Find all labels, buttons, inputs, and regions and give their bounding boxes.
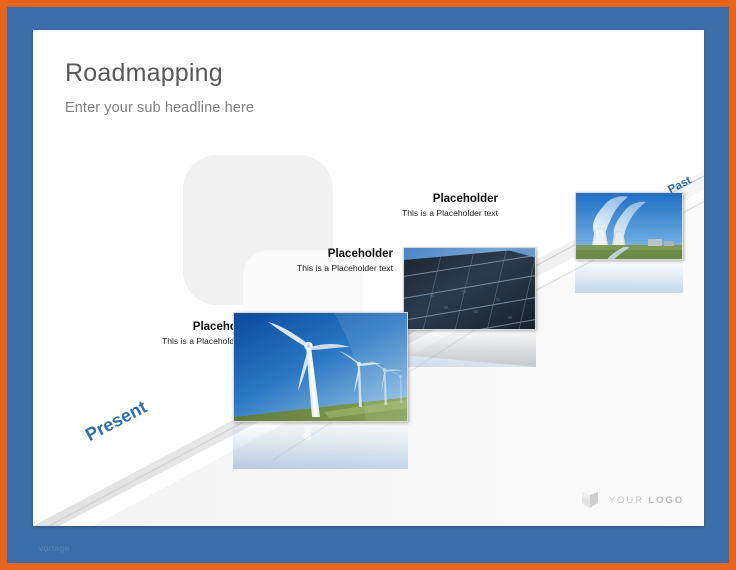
presentation-frame: vorlage: [7, 7, 729, 563]
headline-block: Roadmapping Enter your sub headline here: [65, 58, 254, 116]
photo-reflection: [233, 423, 408, 469]
wind-turbine-illustration: [234, 313, 408, 422]
wind-turbines-photo[interactable]: [233, 312, 408, 422]
step-photo-wrap-present[interactable]: [233, 312, 408, 422]
shield-logo-mark: [579, 489, 601, 511]
step-text-past: Placeholder This is a Placeholder text: [402, 192, 498, 218]
step-text-middle: Placeholder This is a Placeholder text: [297, 247, 393, 273]
nuclear-cooling-towers-photo[interactable]: [575, 192, 683, 260]
logo-word-one: YOUR: [609, 495, 644, 506]
step-description: This is a Placeholder text: [297, 263, 393, 273]
step-description: This is a Placeholder text: [402, 208, 498, 218]
solar-panels-photo[interactable]: [403, 247, 536, 330]
logo-text: YOUR LOGO: [609, 495, 684, 506]
step-title: Placeholder: [297, 247, 393, 261]
logo-word-two: LOGO: [648, 495, 684, 506]
era-label-present: Present: [82, 397, 150, 446]
step-photo-wrap-middle[interactable]: [403, 247, 536, 330]
solar-panel-illustration: [404, 248, 536, 330]
page-root: vorlage: [0, 0, 736, 570]
photo-reflection: [575, 261, 683, 293]
frame-caption: vorlage: [39, 543, 70, 553]
nuclear-plant-illustration: [576, 193, 683, 260]
page-subtitle: Enter your sub headline here: [65, 100, 254, 116]
photo-reflection: [403, 331, 536, 367]
step-photo-wrap-past[interactable]: [575, 192, 683, 260]
page-title: Roadmapping: [65, 58, 254, 89]
slide-canvas: Roadmapping Enter your sub headline here…: [33, 30, 704, 526]
logo-block: YOUR LOGO: [579, 489, 684, 511]
step-title: Placeholder: [402, 192, 498, 206]
